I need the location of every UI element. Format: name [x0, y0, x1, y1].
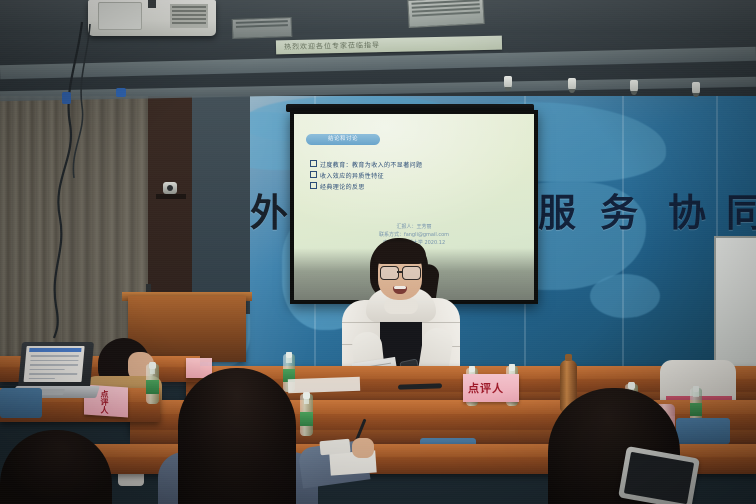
chair-back-1 [0, 388, 42, 418]
wall-panel-left [188, 88, 250, 314]
conference-room-photo: 服 务 协 同 创 外 语 热烈欢迎各位专 [0, 0, 756, 504]
slide-bullet-text-2: 经典理论的反思 [320, 184, 365, 191]
wall-character-2: 协 [668, 182, 706, 237]
checkbox-icon [310, 182, 317, 189]
slide-bullet-text-0: 过度教育：教育为收入的不显著问题 [320, 162, 422, 169]
projector-mount [148, 0, 156, 8]
tablet-screen [624, 452, 694, 504]
laptop-screen [24, 346, 85, 382]
nameplate-left-text: 点评人 [99, 390, 110, 415]
slide-bullet-1: 收入效应的异质性特征 [310, 171, 384, 181]
phone-on-desk [319, 439, 350, 456]
slide-title: 结论和讨论 [306, 134, 380, 145]
slide-footer-0: 汇报人：王芳丽 [294, 224, 534, 231]
whiteboard [714, 236, 756, 368]
water-bottle-3 [300, 392, 313, 436]
eyeglasses-bridge [397, 271, 402, 273]
spotlight-icon-3 [630, 80, 638, 93]
eyeglasses-right-lens [402, 266, 421, 280]
cable-clip [62, 92, 71, 104]
nameplate-right: 点评人 [463, 374, 519, 402]
spotlight-icon-2 [568, 78, 576, 91]
projector-vent [170, 4, 208, 28]
cable-clip-2 [116, 88, 126, 97]
laptop-lid [18, 342, 94, 388]
eyeglasses-left-lens [380, 266, 399, 280]
water-bottle-1 [146, 362, 159, 404]
checkbox-icon [310, 171, 317, 178]
wall-character-1: 务 [600, 182, 638, 237]
presenter-collar [384, 298, 418, 314]
audience-left-foreground [0, 430, 112, 504]
ac-vent-icon [407, 0, 484, 28]
checkbox-icon [310, 160, 317, 167]
wall-character-3: 同 [726, 182, 756, 237]
audience-front-hand [352, 438, 374, 458]
presenter-fringe [374, 242, 426, 264]
slide-bullet-2: 经典理论的反思 [310, 182, 365, 192]
wall-character-left-0: 外 [250, 182, 288, 237]
slide-bullet-text-1: 收入效应的异质性特征 [320, 173, 384, 180]
spotlight-icon-4 [692, 82, 700, 95]
papers-on-desk-center [288, 377, 360, 394]
nameplate-right-text: 点评人 [468, 380, 504, 396]
slide-bullet-0: 过度教育：教育为收入的不显著问题 [310, 160, 422, 170]
welcome-banner-text: 热烈欢迎各位专家莅临指导 [284, 40, 380, 52]
spotlight-icon-1 [504, 76, 512, 89]
ac-vent-icon-2 [232, 17, 293, 39]
wall-character-0: 服 [538, 182, 576, 237]
chair-back-3 [676, 418, 730, 444]
audience-front-head [178, 368, 296, 504]
